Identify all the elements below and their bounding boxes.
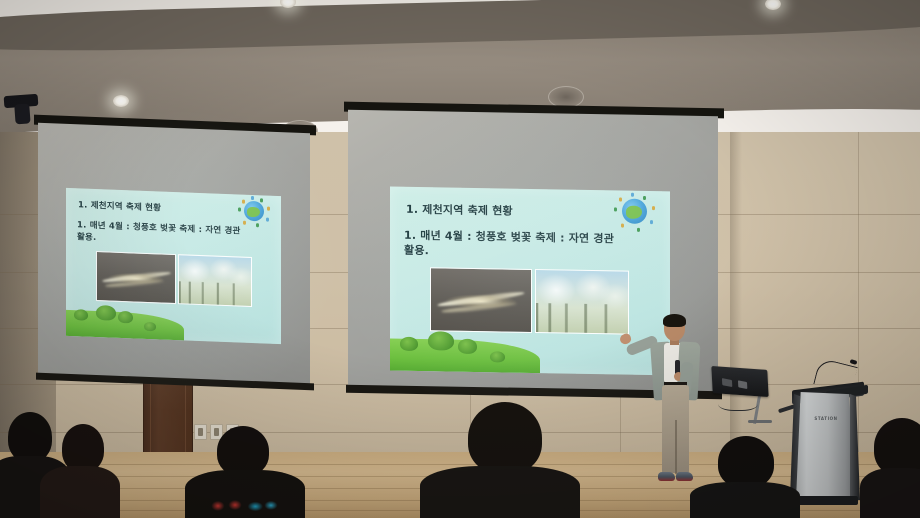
slide-bush — [458, 339, 477, 354]
audience-head — [217, 426, 269, 476]
lectern-logo: STATION — [806, 416, 846, 421]
audience-member — [185, 430, 305, 518]
left-projection-screen[interactable]: 1. 제천지역 축제 현황 1. 매년 4월 : 청풍호 벚꽃 축제 : 자연 … — [38, 123, 310, 385]
hoodie-graphic — [207, 496, 285, 514]
audience-head — [468, 402, 542, 474]
lectern[interactable]: STATION — [790, 378, 864, 503]
monitor-screen[interactable] — [711, 366, 768, 397]
slide-bush — [428, 331, 454, 350]
slide-photo-night — [430, 267, 532, 333]
audience-body — [40, 466, 120, 518]
presenter-shoe — [658, 472, 675, 481]
slide-bush — [118, 311, 133, 324]
slide-bush — [144, 322, 156, 331]
ceiling-camera-icon — [4, 94, 39, 108]
audience-member — [690, 442, 800, 518]
left-slide: 1. 제천지역 축제 현황 1. 매년 4월 : 청풍호 벚꽃 축제 : 자연 … — [66, 188, 281, 344]
slide-body-line2: 활용. — [404, 242, 429, 258]
monitor-foot — [748, 420, 772, 423]
slide-heading: 1. 제천지역 축제 현황 — [78, 198, 161, 213]
lectern-right-edge — [850, 394, 860, 500]
ceiling-downlight — [113, 95, 129, 107]
slide-heading: 1. 제천지역 축제 현황 — [406, 201, 513, 219]
presenter-hair — [663, 314, 686, 327]
audience-member — [420, 406, 580, 518]
earth-globe-logo — [622, 199, 647, 224]
presenter-leg-seam — [675, 420, 677, 474]
slide-photo-trees — [178, 254, 252, 307]
audience-head — [718, 436, 774, 488]
audience-member — [40, 426, 120, 518]
confidence-monitor[interactable] — [712, 368, 776, 426]
slide-body-line2: 활용. — [77, 230, 96, 243]
audience-member — [860, 422, 920, 518]
monitor-port — [738, 380, 747, 389]
slide-body-line1: 1. 매년 4월 : 청풍호 벚꽃 축제 : 자연 경관 — [404, 227, 614, 247]
audience-head — [62, 424, 104, 472]
lectern-body — [796, 392, 854, 500]
slide-body-line1: 1. 매년 4월 : 청풍호 벚꽃 축제 : 자연 경관 — [77, 218, 241, 236]
slide-photo-trees — [535, 269, 629, 335]
lectern-base — [792, 496, 858, 505]
lecture-hall-photo: 1. 제천지역 축제 현황 1. 매년 4월 : 청풍호 벚꽃 축제 : 자연 … — [0, 0, 920, 518]
monitor-cable — [718, 394, 758, 411]
slide-photo-night — [96, 251, 176, 304]
slide-bush — [74, 309, 88, 321]
slide-bush — [96, 305, 116, 321]
slide-bush — [400, 337, 418, 351]
earth-globe-logo — [244, 201, 264, 222]
audience-body — [860, 468, 920, 518]
audience-body — [420, 466, 580, 518]
audience-body — [690, 482, 800, 518]
slide-bush — [490, 351, 505, 362]
monitor-port — [722, 378, 732, 387]
